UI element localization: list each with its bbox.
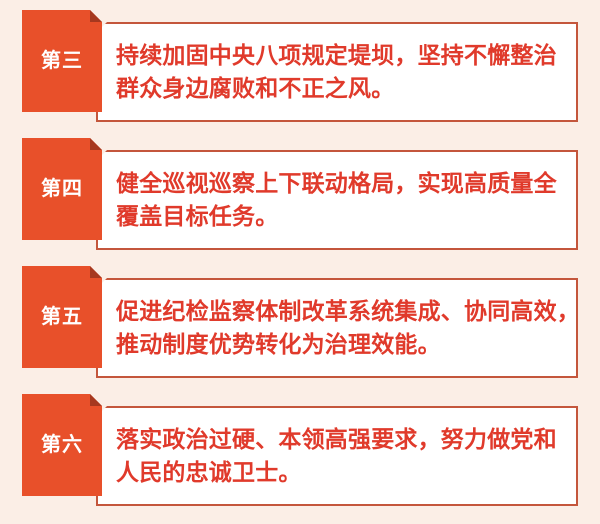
card-text-line: 落实政治过硬、本领高强要求，努力做党和 [116,423,568,456]
infographic-board: 第三 持续加固中央八项规定堤坝，坚持不懈整治 群众身边腐败和不正之风。 第四 健… [0,0,600,524]
card-text-line: 人民的忠诚卫士。 [116,456,568,489]
card-number-label: 第四 [22,138,102,240]
list-item: 第四 健全巡视巡察上下联动格局，实现高质量全 覆盖目标任务。 [0,128,600,256]
card-text-line: 健全巡视巡察上下联动格局，实现高质量全 [116,167,568,200]
card-number-label: 第五 [22,266,102,368]
list-item: 第六 落实政治过硬、本领高强要求，努力做党和 人民的忠诚卫士。 [0,384,600,512]
card-text: 持续加固中央八项规定堤坝，坚持不懈整治 群众身边腐败和不正之风。 [116,22,568,122]
list-item: 第五 促进纪检监察体制改革系统集成、协同高效， 推动制度优势转化为治理效能。 [0,256,600,384]
card-text: 促进纪检监察体制改革系统集成、协同高效， 推动制度优势转化为治理效能。 [116,278,568,378]
card-number-label: 第三 [22,10,102,112]
card-text: 落实政治过硬、本领高强要求，努力做党和 人民的忠诚卫士。 [116,406,568,506]
card-text: 健全巡视巡察上下联动格局，实现高质量全 覆盖目标任务。 [116,150,568,250]
list-item: 第三 持续加固中央八项规定堤坝，坚持不懈整治 群众身边腐败和不正之风。 [0,0,600,128]
card-number-label: 第六 [22,394,102,496]
card-text-line: 覆盖目标任务。 [116,200,568,233]
card-text-line: 推动制度优势转化为治理效能。 [116,328,568,361]
card-text-line: 促进纪检监察体制改革系统集成、协同高效， [116,295,568,328]
card-text-line: 持续加固中央八项规定堤坝，坚持不懈整治 [116,39,568,72]
card-text-line: 群众身边腐败和不正之风。 [116,72,568,105]
